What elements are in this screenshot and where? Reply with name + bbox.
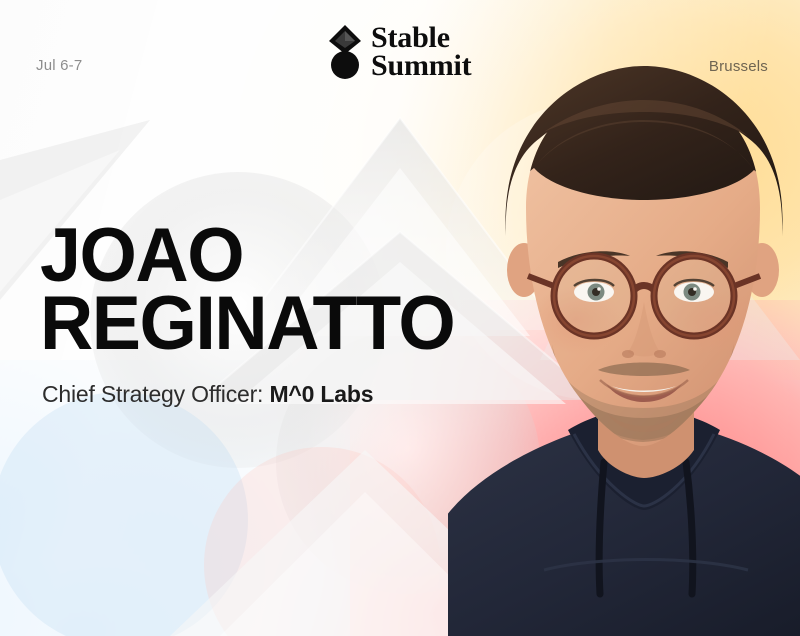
speaker-role-prefix: Chief Strategy Officer: [42, 381, 263, 407]
event-dates: Jul 6-7 [36, 57, 82, 74]
speaker-role: Chief Strategy Officer: M^0 Labs [42, 381, 373, 408]
speaker-announcement-poster: Jul 6-7 Brussels Stable Summit JOAO REGI… [0, 0, 800, 636]
speaker-company: M^0 Labs [269, 381, 373, 407]
logo-text-line1: Stable [371, 24, 471, 52]
speaker-last-name: REGINATTO [40, 290, 454, 358]
speaker-first-name: JOAO [40, 222, 454, 290]
diamond-circle-logo-icon [328, 24, 362, 80]
speaker-name-block: JOAO REGINATTO [40, 222, 467, 359]
speaker-portrait [448, 58, 800, 636]
